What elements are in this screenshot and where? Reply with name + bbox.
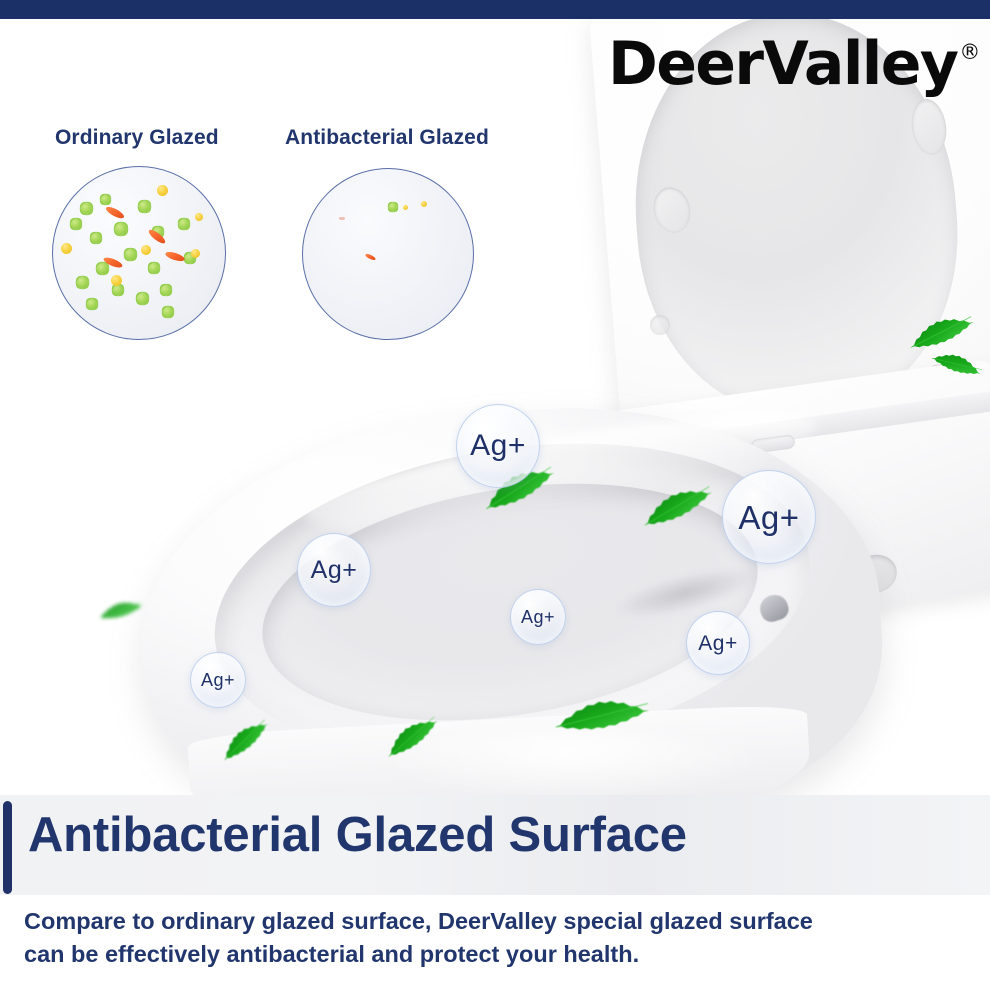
ag-ion-label: Ag+ xyxy=(470,431,526,461)
registered-trademark-icon: ® xyxy=(959,42,980,63)
ag-ion-bubble: Ag+ xyxy=(686,611,750,675)
germ-green-icon xyxy=(71,219,81,229)
germ-green-icon xyxy=(113,285,123,295)
germ-green-icon xyxy=(137,293,148,304)
antibacterial-glazed-sample-circle xyxy=(302,168,474,340)
germ-yellow-icon xyxy=(403,205,408,210)
lid-bumper xyxy=(650,315,670,335)
germ-green-icon xyxy=(87,299,97,309)
page-title: Antibacterial Glazed Surface xyxy=(28,807,687,863)
ag-ion-label: Ag+ xyxy=(698,633,737,654)
accent-bar xyxy=(3,801,12,894)
ordinary-glazed-label: Ordinary Glazed xyxy=(55,126,219,150)
germ-green-icon xyxy=(77,277,88,288)
bacteria-rod-icon xyxy=(164,250,185,263)
deervalley-logo: DeerValley ® xyxy=(608,36,980,93)
germ-yellow-icon xyxy=(421,201,427,207)
germ-green-icon xyxy=(81,203,92,214)
body-copy-line-1: Compare to ordinary glazed surface, Deer… xyxy=(24,905,864,938)
ag-ion-bubble: Ag+ xyxy=(722,470,816,564)
germ-green-icon xyxy=(389,203,397,211)
germ-yellow-icon xyxy=(141,245,151,255)
germ-green-icon xyxy=(163,307,173,317)
ordinary-glazed-sample-circle xyxy=(52,166,226,340)
germ-green-icon xyxy=(97,263,108,274)
ag-ion-label: Ag+ xyxy=(201,671,235,689)
ag-ion-bubble: Ag+ xyxy=(297,533,371,607)
bacteria-rod-icon xyxy=(105,205,126,220)
ag-ion-bubble: Ag+ xyxy=(456,404,540,488)
body-copy: Compare to ordinary glazed surface, Deer… xyxy=(24,905,864,972)
germ-yellow-icon xyxy=(195,213,203,221)
ag-ion-label: Ag+ xyxy=(738,501,799,534)
germ-green-icon xyxy=(139,201,150,212)
germ-green-icon xyxy=(161,285,171,295)
ag-ion-bubble: Ag+ xyxy=(510,589,566,645)
germ-yellow-icon xyxy=(111,275,122,286)
germ-yellow-icon xyxy=(61,243,72,254)
bacteria-rod-icon xyxy=(365,253,377,261)
top-navy-bar xyxy=(0,0,990,19)
germ-green-icon xyxy=(115,223,127,235)
germ-green-icon xyxy=(179,219,189,229)
germ-green-icon xyxy=(101,195,110,204)
germ-yellow-icon xyxy=(157,185,168,196)
germ-green-icon xyxy=(125,249,136,260)
germ-green-icon xyxy=(91,233,101,243)
logo-wordmark: DeerValley xyxy=(608,36,957,93)
faint-speck xyxy=(339,217,345,220)
product-feature-image: Ag+Ag+Ag+Ag+Ag+Ag+ Ordinary Glazed Antib… xyxy=(0,0,990,990)
germ-yellow-icon xyxy=(191,249,200,258)
footer-text-block: Antibacterial Glazed Surface Compare to … xyxy=(0,795,990,990)
ag-ion-label: Ag+ xyxy=(521,608,555,626)
body-copy-line-2: can be effectively antibacterial and pro… xyxy=(24,938,864,971)
antibacterial-glazed-label: Antibacterial Glazed xyxy=(285,126,489,150)
germ-green-icon xyxy=(149,263,159,273)
ag-ion-label: Ag+ xyxy=(311,558,358,583)
ag-ion-bubble: Ag+ xyxy=(190,652,246,708)
